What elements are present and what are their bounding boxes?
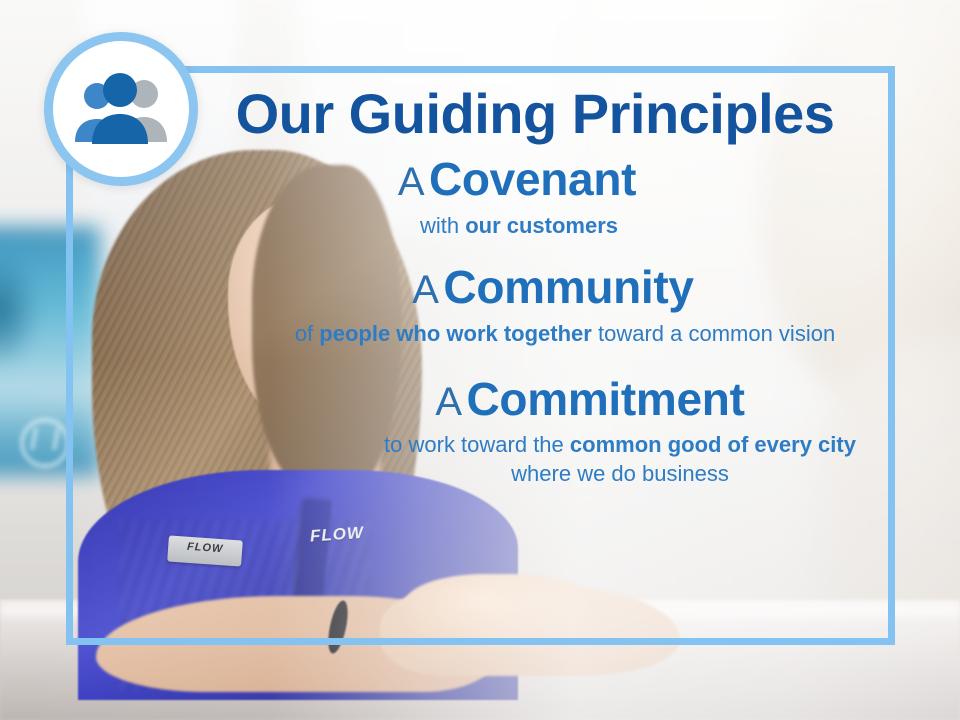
principle-covenant-subtext: with our customers — [190, 211, 880, 240]
page-title: Our Guiding Principles — [190, 84, 880, 144]
principle-covenant-heading: A Covenant — [190, 154, 880, 205]
principle-community-subtext: of people who work together toward a com… — [190, 319, 880, 348]
principle-covenant: A Covenant with our customers — [190, 154, 880, 240]
principle-community-sub-lead: of — [295, 321, 319, 346]
principle-community-sub-bold: people who work together — [319, 321, 592, 346]
people-group-icon-badge — [44, 32, 198, 186]
principle-commitment-heading: A Commitment — [190, 374, 880, 425]
principle-community-sub-tail: toward a common vision — [592, 321, 835, 346]
principle-commitment: A Commitment to work toward the common g… — [190, 374, 880, 489]
principle-commitment-sub-tail: where we do business — [511, 461, 729, 486]
principle-commitment-sub-bold: common good of every city — [570, 432, 856, 457]
principle-covenant-article: A — [398, 160, 425, 204]
principle-community-article: A — [412, 268, 439, 312]
principle-commitment-sub-lead: to work toward the — [384, 432, 570, 457]
principle-covenant-sub-bold: our customers — [465, 213, 618, 238]
principle-commitment-word: Commitment — [467, 373, 745, 425]
principle-covenant-word: Covenant — [429, 153, 636, 205]
guiding-principles-graphic: FLOW FLOW Our Guiding — [0, 0, 960, 720]
principle-covenant-sub-lead: with — [420, 213, 465, 238]
principle-commitment-article: A — [435, 380, 462, 424]
people-group-icon — [69, 72, 173, 146]
principle-commitment-subtext: to work toward the common good of every … — [190, 430, 880, 488]
principle-community-word: Community — [443, 261, 693, 313]
principle-community-heading: A Community — [190, 262, 880, 313]
text-content: Our Guiding Principles A Covenant with o… — [190, 84, 880, 488]
principle-community: A Community of people who work together … — [190, 262, 880, 348]
